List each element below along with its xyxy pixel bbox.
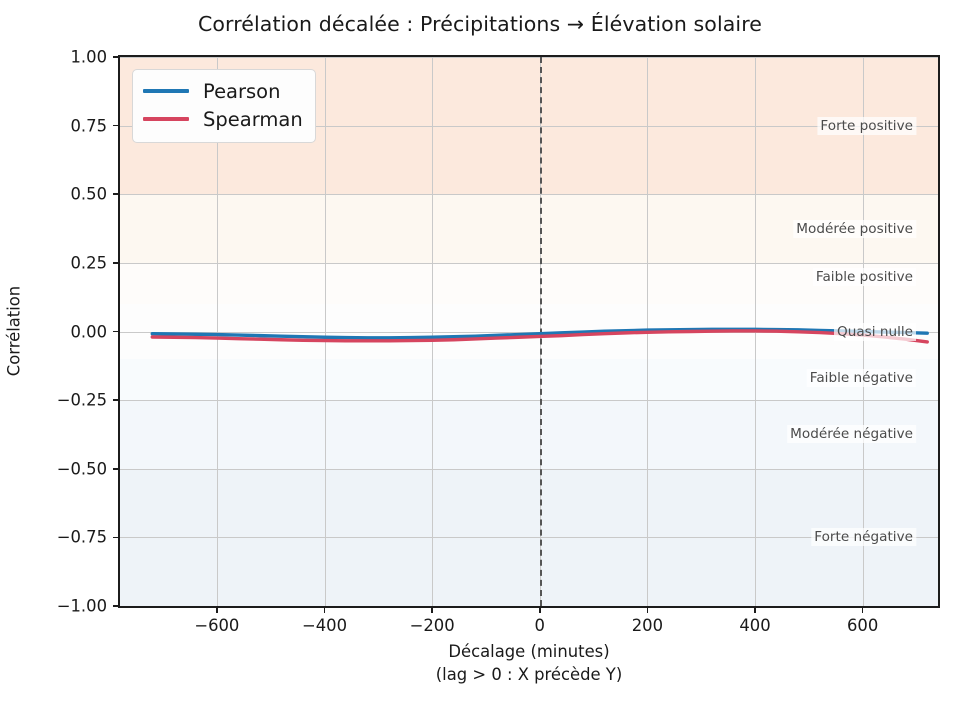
x-tick-mark: [862, 608, 864, 613]
x-tick-label: 200: [632, 616, 663, 635]
y-tick-label: 0.50: [1, 185, 107, 204]
x-tick-label: −200: [410, 616, 455, 635]
y-tick-label: 0.75: [1, 116, 107, 135]
x-tick-mark: [216, 608, 218, 613]
zone-label: Forte négative: [811, 528, 916, 546]
y-tick-label: −0.50: [1, 459, 107, 478]
y-tick-label: 1.00: [1, 48, 107, 67]
legend-item[interactable]: Pearson: [143, 77, 303, 105]
zone-label: Modérée négative: [787, 425, 916, 443]
x-tick-label: 400: [739, 616, 770, 635]
y-tick-label: −0.25: [1, 391, 107, 410]
y-tick-label: −1.00: [1, 597, 107, 616]
zone-label: Faible négative: [807, 369, 916, 387]
y-tick-label: 0.25: [1, 253, 107, 272]
y-axis-label: Corrélation: [5, 286, 24, 376]
x-tick-mark: [324, 608, 326, 613]
legend: PearsonSpearman: [132, 69, 316, 143]
legend-item-label: Pearson: [203, 80, 280, 103]
chart-figure: Corrélation décalée : Précipitations → É…: [0, 0, 960, 720]
y-tick-mark: [113, 537, 118, 539]
y-tick-mark: [113, 605, 118, 607]
gridline-horizontal: [120, 606, 938, 607]
y-tick-mark: [113, 125, 118, 127]
zone-label: Forte positive: [817, 117, 916, 135]
zone-label: Faible positive: [813, 268, 916, 286]
x-axis-label-line2: (lag > 0 : X précède Y): [118, 663, 940, 686]
x-axis-label-line1: Décalage (minutes): [118, 640, 940, 663]
y-tick-mark: [113, 399, 118, 401]
legend-color-swatch: [143, 89, 189, 92]
chart-title: Corrélation décalée : Précipitations → É…: [0, 12, 960, 36]
x-tick-label: −600: [194, 616, 239, 635]
x-axis-label: Décalage (minutes) (lag > 0 : X précède …: [118, 640, 940, 687]
x-tick-mark: [539, 608, 541, 613]
y-tick-mark: [113, 56, 118, 58]
legend-color-swatch: [143, 117, 189, 120]
y-tick-label: −0.75: [1, 528, 107, 547]
x-tick-label: −400: [302, 616, 347, 635]
x-tick-label: 0: [535, 616, 545, 635]
x-tick-mark: [647, 608, 649, 613]
y-tick-mark: [113, 193, 118, 195]
zone-label: Quasi nulle: [834, 323, 916, 341]
x-tick-mark: [754, 608, 756, 613]
y-tick-mark: [113, 331, 118, 333]
x-tick-label: 600: [847, 616, 878, 635]
legend-item-label: Spearman: [203, 108, 303, 131]
y-tick-mark: [113, 262, 118, 264]
y-tick-mark: [113, 468, 118, 470]
zone-label: Modérée positive: [793, 220, 916, 238]
legend-item[interactable]: Spearman: [143, 105, 303, 133]
x-tick-mark: [431, 608, 433, 613]
